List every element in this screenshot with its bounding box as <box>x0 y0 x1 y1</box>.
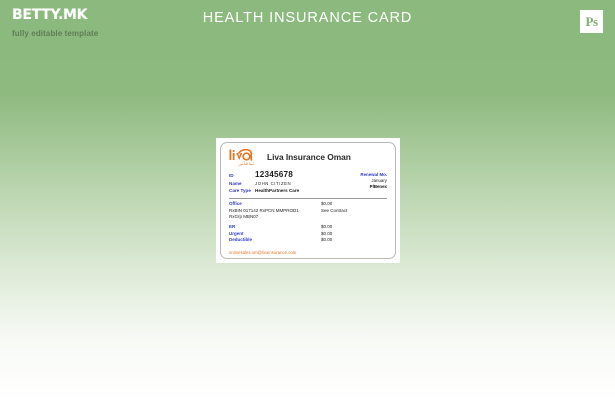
benefit-office-value: $0.00 <box>321 201 332 207</box>
liva-logo: ليڤا للتأمين <box>229 149 263 166</box>
benefit-row-urgent: Urgent $0.00 <box>229 231 387 238</box>
benefit-urgent-label: Urgent <box>229 231 321 237</box>
renewal-block: Renewal Mo. January PlBenex <box>360 171 387 191</box>
page-title: HEALTH INSURANCE CARD <box>0 10 615 26</box>
member-info-rows: ID 12345678 Name JOHN CITIZEN Care Type … <box>229 170 299 195</box>
benefit-row-rxbin: RxBIN 017142 RxPCN MMPROD1 See Contract <box>229 208 387 215</box>
card-footer-email[interactable]: onlinesales.om@livainsurance.com <box>229 250 387 255</box>
page-header: BETTY.MK fully editable template HEALTH … <box>0 0 615 46</box>
member-name-value: JOHN CITIZEN <box>255 180 291 187</box>
benefit-office-label: Office <box>229 201 321 207</box>
photoshop-badge: Ps <box>580 10 603 33</box>
renewal-plan-value: PlBenex <box>360 184 387 190</box>
member-id-value: 12345678 <box>255 170 293 179</box>
benefit-row-deductible: Deductible $0.00 <box>229 237 387 244</box>
benefit-rxbin-label: RxBIN 017142 RxPCN MMPROD1 <box>229 208 321 214</box>
member-care-type-label: Care Type <box>229 187 255 194</box>
liva-logo-arabic: ليڤا للتأمين <box>229 162 263 166</box>
member-info-block: ID 12345678 Name JOHN CITIZEN Care Type … <box>229 170 387 195</box>
renewal-label: Renewal Mo. <box>360 171 387 178</box>
benefit-row-er: ER $0.00 <box>229 224 387 231</box>
member-id-label: ID <box>229 172 255 179</box>
card-logo-row: ليڤا للتأمين Liva Insurance Oman <box>229 149 387 168</box>
benefit-deductible-value: $0.00 <box>321 237 332 243</box>
photoshop-icon: Ps <box>586 15 598 28</box>
benefit-er-value: $0.00 <box>321 224 332 230</box>
member-name-label: Name <box>229 180 255 187</box>
benefit-deductible-label: Deductible <box>229 237 321 243</box>
card-title: Liva Insurance Oman <box>267 152 351 162</box>
benefit-row-rxgrp: RxGrp MBN07 <box>229 214 387 221</box>
member-row-care-type: Care Type HealthPartners Care <box>229 187 299 194</box>
benefit-urgent-value: $0.00 <box>321 231 332 237</box>
member-row-name: Name JOHN CITIZEN <box>229 180 299 187</box>
page-background: BETTY.MK fully editable template HEALTH … <box>0 0 615 400</box>
card-divider <box>229 198 387 199</box>
insurance-card: ليڤا للتأمين Liva Insurance Oman ID 1234… <box>220 142 396 259</box>
liva-wordmark-icon <box>229 149 263 162</box>
benefit-row-office: Office $0.00 <box>229 201 387 208</box>
benefits-block: Office $0.00 RxBIN 017142 RxPCN MMPROD1 … <box>229 201 387 244</box>
member-care-type-value: HealthPartners Care <box>255 187 299 194</box>
benefit-rxbin-value: See Contract <box>321 208 347 214</box>
member-row-id: ID 12345678 <box>229 170 299 180</box>
benefit-er-label: ER <box>229 224 321 230</box>
brand-tagline: fully editable template <box>12 29 98 38</box>
benefit-rxgrp-label: RxGrp MBN07 <box>229 214 321 220</box>
card-artboard-panel: ليڤا للتأمين Liva Insurance Oman ID 1234… <box>216 138 400 263</box>
